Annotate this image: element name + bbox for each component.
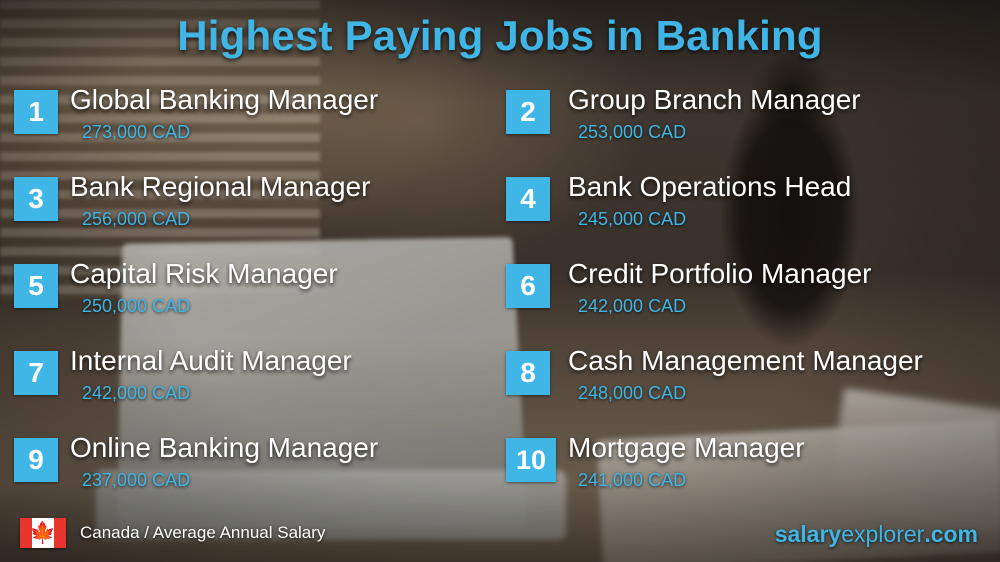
rank-badge: 1 <box>14 90 58 134</box>
content-layer: Highest Paying Jobs in Banking 1 Global … <box>0 0 1000 562</box>
ranking-column-right: 2 Group Branch Manager 253,000 CAD 4 Ban… <box>506 86 976 521</box>
maple-leaf-glyph: 🍁 <box>30 523 56 544</box>
rank-badge: 2 <box>506 90 550 134</box>
list-item: 2 Group Branch Manager 253,000 CAD <box>506 86 976 173</box>
infographic-canvas: Highest Paying Jobs in Banking 1 Global … <box>0 0 1000 562</box>
brand-logo: salaryexplorer.com <box>775 521 978 548</box>
salary-value: 245,000 CAD <box>578 209 686 230</box>
salary-value: 242,000 CAD <box>82 383 190 404</box>
job-title: Group Branch Manager <box>568 84 861 116</box>
job-title: Mortgage Manager <box>568 432 805 464</box>
rank-badge: 9 <box>14 438 58 482</box>
brand-bold: salary <box>775 521 842 547</box>
job-title: Bank Operations Head <box>568 171 851 203</box>
list-item: 5 Capital Risk Manager 250,000 CAD <box>14 260 484 347</box>
list-item: 7 Internal Audit Manager 242,000 CAD <box>14 347 484 434</box>
salary-value: 250,000 CAD <box>82 296 190 317</box>
job-title: Cash Management Manager <box>568 345 923 377</box>
rank-badge: 6 <box>506 264 550 308</box>
job-title: Online Banking Manager <box>70 432 378 464</box>
job-title: Internal Audit Manager <box>70 345 352 377</box>
footer-caption: Canada / Average Annual Salary <box>80 523 325 543</box>
canada-flag-icon: 🍁 <box>20 518 66 548</box>
rank-badge: 4 <box>506 177 550 221</box>
rank-badge: 7 <box>14 351 58 395</box>
salary-value: 241,000 CAD <box>578 470 686 491</box>
rank-badge: 10 <box>506 438 556 482</box>
footer-region: 🍁 Canada / Average Annual Salary <box>20 518 325 548</box>
salary-value: 248,000 CAD <box>578 383 686 404</box>
rank-badge: 8 <box>506 351 550 395</box>
job-title: Credit Portfolio Manager <box>568 258 871 290</box>
rank-badge: 5 <box>14 264 58 308</box>
list-item: 6 Credit Portfolio Manager 242,000 CAD <box>506 260 976 347</box>
job-title: Bank Regional Manager <box>70 171 370 203</box>
salary-value: 242,000 CAD <box>578 296 686 317</box>
page-title: Highest Paying Jobs in Banking <box>0 12 1000 60</box>
list-item: 8 Cash Management Manager 248,000 CAD <box>506 347 976 434</box>
list-item: 4 Bank Operations Head 245,000 CAD <box>506 173 976 260</box>
list-item: 9 Online Banking Manager 237,000 CAD <box>14 434 484 521</box>
salary-value: 256,000 CAD <box>82 209 190 230</box>
job-title: Capital Risk Manager <box>70 258 338 290</box>
salary-value: 237,000 CAD <box>82 470 190 491</box>
salary-value: 273,000 CAD <box>82 122 190 143</box>
brand-tld: .com <box>924 521 978 547</box>
ranking-column-left: 1 Global Banking Manager 273,000 CAD 3 B… <box>14 86 484 521</box>
list-item: 10 Mortgage Manager 241,000 CAD <box>506 434 976 521</box>
brand-light: explorer <box>841 521 924 547</box>
rank-badge: 3 <box>14 177 58 221</box>
list-item: 3 Bank Regional Manager 256,000 CAD <box>14 173 484 260</box>
job-title: Global Banking Manager <box>70 84 378 116</box>
salary-value: 253,000 CAD <box>578 122 686 143</box>
list-item: 1 Global Banking Manager 273,000 CAD <box>14 86 484 173</box>
